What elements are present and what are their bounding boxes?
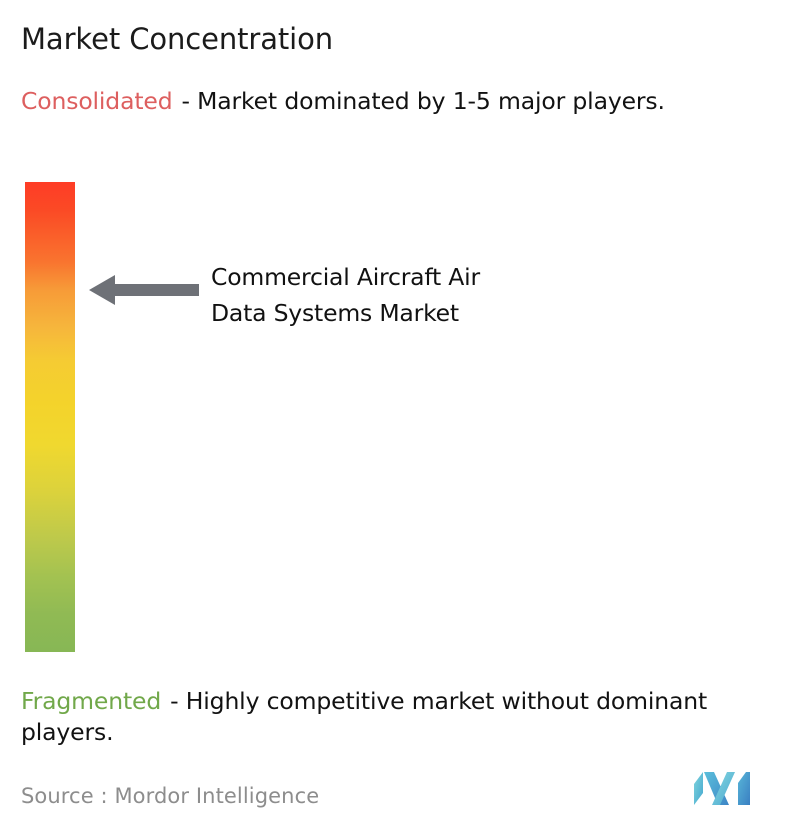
concentration-gradient-bar — [25, 182, 75, 652]
page-title: Market Concentration — [21, 20, 333, 58]
legend-description-consolidated: - Market dominated by 1-5 major players. — [181, 87, 664, 115]
source-attribution: Source : Mordor Intelligence — [21, 782, 319, 810]
callout-label-line1: Commercial Aircraft Air — [211, 259, 631, 295]
legend-consolidated: Consolidated- Market dominated by 1-5 ma… — [21, 86, 783, 117]
legend-term-fragmented: Fragmented — [21, 687, 161, 715]
left-arrow-icon — [89, 273, 199, 307]
callout-label: Commercial Aircraft Air Data Systems Mar… — [211, 259, 631, 331]
legend-fragmented: Fragmented- Highly competitive market wi… — [21, 686, 783, 748]
legend-term-consolidated: Consolidated — [21, 87, 172, 115]
callout-label-line2: Data Systems Market — [211, 295, 631, 331]
market-concentration-chart: Market Concentration Consolidated- Marke… — [0, 0, 796, 834]
mordor-intelligence-logo-icon — [694, 772, 754, 807]
